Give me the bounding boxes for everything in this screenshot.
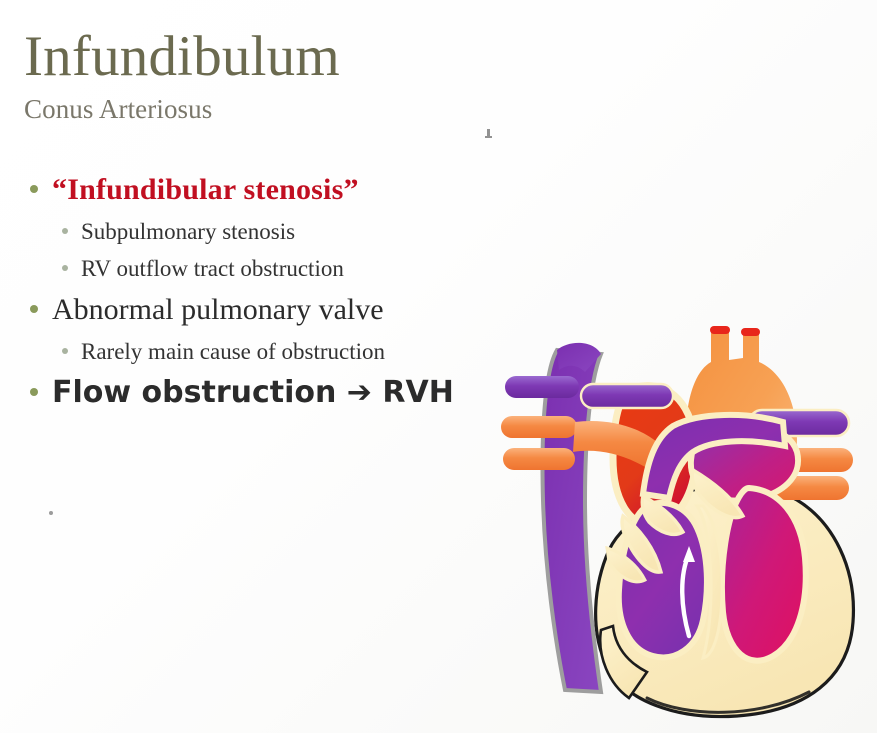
bullet-dot-icon — [30, 305, 38, 313]
subclavian-tip — [741, 328, 760, 336]
left-pulmonary-artery-upper — [505, 376, 579, 398]
bullet-dot-icon — [30, 388, 38, 396]
list-item-label: Flow obstruction ➔ RVH — [52, 371, 454, 415]
bullet-list: “Infundibular stenosis” Subpulmonary ste… — [30, 168, 530, 417]
left-pulmonary-vein-lower — [503, 448, 575, 470]
heart-cross-section-diagram — [497, 300, 877, 725]
page-title: Infundibulum — [24, 26, 584, 88]
page-subtitle: Conus Arteriosus — [24, 92, 584, 126]
list-item: Rarely main cause of obstruction — [62, 334, 530, 370]
list-item-label: Rarely main cause of obstruction — [81, 334, 385, 370]
presentation-slide: Infundibulum Conus Arteriosus “Infundibu… — [0, 0, 877, 733]
list-item: Flow obstruction ➔ RVH — [30, 371, 530, 415]
brachiocephalic-tip — [710, 326, 730, 334]
title-block: Infundibulum Conus Arteriosus — [24, 26, 584, 126]
bullet-dot-icon — [30, 185, 38, 193]
left-pulmonary-artery-branch — [581, 384, 673, 408]
list-item: RV outflow tract obstruction — [62, 251, 530, 287]
left-pulmonary-vein-upper — [501, 416, 577, 438]
stray-dot-mark — [49, 511, 53, 515]
list-item: Subpulmonary stenosis — [62, 214, 530, 250]
list-item-label: Subpulmonary stenosis — [81, 214, 295, 250]
bullet-dot-icon — [62, 228, 68, 234]
list-item: Abnormal pulmonary valve — [30, 288, 530, 332]
cursor-artifact-icon — [484, 126, 493, 137]
list-item: “Infundibular stenosis” — [30, 168, 530, 212]
list-item-label: Abnormal pulmonary valve — [52, 288, 384, 332]
bullet-dot-icon — [62, 265, 68, 271]
list-item-label: RV outflow tract obstruction — [81, 251, 344, 287]
bullet-dot-icon — [62, 348, 68, 354]
list-item-label: “Infundibular stenosis” — [52, 168, 359, 212]
